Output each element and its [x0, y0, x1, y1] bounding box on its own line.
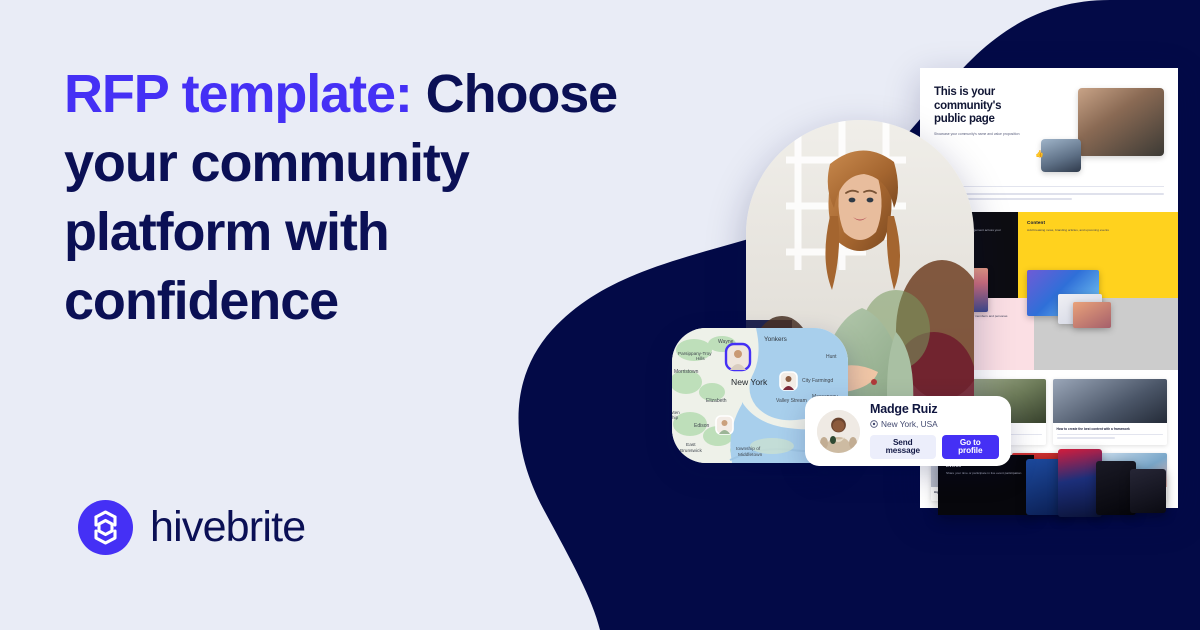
profile-location-text: New York, USA — [881, 419, 938, 429]
send-message-button[interactable]: Send message — [870, 435, 936, 459]
avatar-illustration — [817, 410, 860, 453]
go-to-profile-button[interactable]: Go to profile — [942, 435, 999, 459]
avatar-pin-3 — [716, 416, 733, 434]
profile-name: Madge Ruiz — [870, 403, 999, 417]
events-subtitle: Share your time or participate in live e… — [946, 471, 1026, 476]
mockup-band-content: Content Add breaking news, branding arti… — [1018, 212, 1178, 298]
svg-text:Hills: Hills — [696, 356, 705, 361]
mockup-hero-title: This is your community's public page — [934, 86, 1034, 127]
band-label-content: Content — [1027, 220, 1169, 225]
thumbs-up-icon: 👍 — [1035, 150, 1044, 158]
profile-location: New York, USA — [870, 419, 999, 429]
band-screenshot-content-c — [1073, 302, 1111, 328]
article-card-body: How to create the best content with a fr… — [1053, 423, 1168, 445]
page-title: RFP template: Choose your community plat… — [64, 60, 674, 336]
svg-text:Hunt: Hunt — [826, 354, 837, 360]
mockup-hero-text: This is your community's public page Sho… — [934, 86, 1034, 164]
svg-text:New York: New York — [731, 377, 768, 387]
hero-photo-team — [1041, 139, 1081, 172]
location-pin-icon — [870, 420, 878, 428]
brand-logo[interactable]: hivebrite — [78, 500, 305, 555]
svg-text:Yonkers: Yonkers — [764, 336, 787, 343]
svg-text:Elizabeth: Elizabeth — [706, 398, 727, 404]
events-card-stack — [1034, 455, 1158, 521]
grid-photo-5 — [1082, 334, 1130, 370]
headline-accent: RFP template: — [64, 64, 412, 124]
mockup-hero: This is your community's public page Sho… — [920, 68, 1178, 170]
svg-text:township of: township of — [736, 446, 761, 452]
avatar-pin-selected — [726, 344, 750, 370]
grid-photo-6 — [1130, 334, 1178, 370]
hero-photo-meeting — [1078, 88, 1164, 156]
svg-text:East: East — [686, 442, 696, 448]
logo-wordmark: hivebrite — [150, 506, 305, 549]
article-card: How to create the best content with a fr… — [1053, 379, 1168, 445]
svg-text:hip: hip — [672, 415, 679, 420]
member-profile-card[interactable]: Madge Ruiz New York, USA Send message Go… — [805, 396, 1011, 466]
article-card-photo — [1053, 379, 1168, 423]
avatar-pin-2 — [780, 372, 797, 390]
svg-text:City Farmingd: City Farmingd — [802, 378, 833, 384]
mockup-hero-photos: 👍 — [1041, 86, 1164, 164]
hivebrite-hex-icon — [78, 500, 133, 555]
svg-text:Valley Stream: Valley Stream — [776, 398, 807, 404]
svg-text:Middletown: Middletown — [738, 452, 763, 458]
article-card-title: How to create the best content with a fr… — [1057, 427, 1164, 432]
svg-text:Brunswick: Brunswick — [680, 448, 702, 454]
profile-card-actions: Send message Go to profile — [870, 435, 999, 459]
svg-text:Morristown: Morristown — [674, 369, 699, 375]
grid-photo-4 — [1034, 334, 1082, 370]
svg-text:Edison: Edison — [694, 423, 710, 429]
profile-card-body: Madge Ruiz New York, USA Send message Go… — [870, 403, 999, 459]
grid-photo-3 — [1130, 298, 1178, 334]
band-desc-content: Add breaking news, branding articles, an… — [1027, 228, 1169, 233]
event-card — [1130, 469, 1166, 513]
avatar — [817, 410, 860, 453]
mockup-hero-subtitle: Showcase your community's name and value… — [934, 132, 1034, 137]
